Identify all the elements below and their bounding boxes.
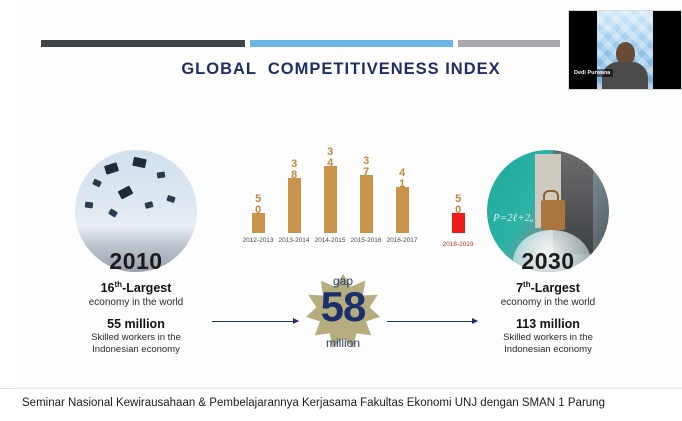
graduation-cap-icon — [118, 185, 134, 199]
slide-left-margin — [0, 0, 14, 388]
bar-value-digit: 8 — [276, 170, 312, 180]
gap-value: 58 — [300, 286, 386, 328]
rule-segment-dark — [41, 40, 245, 47]
bar-rect — [324, 166, 337, 233]
bar-rect — [288, 178, 301, 233]
rank-sub-2030: economy in the world — [448, 297, 648, 308]
briefcase-icon — [541, 200, 565, 230]
webcam-video-feed — [597, 11, 653, 89]
workforce-note-2010-line1: Skilled workers in the — [91, 332, 181, 343]
workforce-figure-2030: 113 million — [448, 317, 648, 331]
circle-image-2030-wrap: P=2ℓ+2ᵤ 2030 — [487, 150, 609, 272]
rule-segment-gray — [458, 40, 560, 47]
rank-suffix-2030: th — [523, 280, 531, 289]
year-label-2010: 2010 — [75, 248, 197, 275]
bar-category-label: 2016-2017 — [376, 237, 428, 244]
rank-line-2010: 16th-Largest — [36, 280, 236, 295]
bar-value-digit: 5 — [440, 194, 476, 204]
workforce-note-2030: Skilled workers in the Indonesian econom… — [448, 332, 648, 356]
bar-value-digit: 4 — [312, 158, 348, 168]
rank-word-2010: -Largest — [122, 281, 171, 295]
rank-suffix-2010: th — [115, 280, 123, 289]
graduation-cap-icon — [144, 201, 153, 209]
caption-bar: Seminar Nasional Kewirausahaan & Pembela… — [0, 388, 682, 421]
bar-category-label: 2018-2019 — [432, 241, 484, 248]
workforce-note-2030-line2: Indonesian economy — [504, 344, 592, 355]
graduation-cap-icon — [157, 171, 166, 178]
bar-value-digit: 0 — [440, 205, 476, 215]
bar-rect — [452, 213, 465, 233]
graduation-cap-icon — [132, 157, 147, 169]
workforce-figure-2010: 55 million — [36, 317, 236, 331]
competitiveness-bar-chart: 502012-2013382013-2014342014-2015372015-… — [228, 160, 490, 255]
bar-rect — [252, 213, 265, 233]
graduation-cap-icon — [92, 179, 102, 188]
graduation-cap-icon — [85, 201, 94, 208]
bar-rect — [360, 175, 373, 233]
workforce-note-2010-line2: Indonesian economy — [92, 344, 180, 355]
graduation-cap-icon — [108, 208, 118, 217]
bar-value-digit: 3 — [348, 156, 384, 166]
panel-2010: 2010 16th-Largest economy in the world 5… — [36, 150, 236, 356]
rank-number-2030: 7 — [516, 281, 523, 295]
bar-value-digit: 1 — [384, 179, 420, 189]
chart-plot-area: 502012-2013382013-2014342014-2015372015-… — [228, 160, 490, 233]
header-rule — [41, 40, 560, 47]
rule-segment-blue — [250, 40, 453, 47]
bar-value-digit: 3 — [312, 147, 348, 157]
rank-line-2030: 7th-Largest — [448, 280, 648, 295]
bar-value-digit: 3 — [276, 159, 312, 169]
bar-value-digit: 0 — [240, 205, 276, 215]
rank-sub-2010: economy in the world — [36, 297, 236, 308]
workforce-note-2030-line1: Skilled workers in the — [503, 332, 593, 343]
bar-value-digit: 4 — [384, 168, 420, 178]
bar-value-digit: 7 — [348, 167, 384, 177]
rank-number-2010: 16 — [101, 281, 115, 295]
gap-unit: million — [300, 336, 386, 350]
year-label-2030: 2030 — [487, 248, 609, 275]
gap-badge: gap 58 million — [300, 268, 386, 354]
webcam-overlay[interactable]: Dedi Purwana — [568, 10, 682, 90]
workforce-note-2010: Skilled workers in the Indonesian econom… — [36, 332, 236, 356]
bar-rect — [396, 187, 409, 233]
bar-value-digit: 5 — [240, 194, 276, 204]
graduation-cap-icon — [104, 162, 119, 175]
circle-image-2010-wrap: 2010 — [75, 150, 197, 272]
graduation-cap-icon — [166, 195, 175, 203]
formula-text: P=2ℓ+2ᵤ — [493, 212, 533, 224]
seminar-caption: Seminar Nasional Kewirausahaan & Pembela… — [22, 397, 605, 409]
flow-arrow-right — [387, 321, 477, 322]
flow-arrow-left — [212, 321, 298, 322]
participant-name-label: Dedi Purwana — [571, 69, 613, 77]
rank-word-2030: -Largest — [531, 281, 580, 295]
